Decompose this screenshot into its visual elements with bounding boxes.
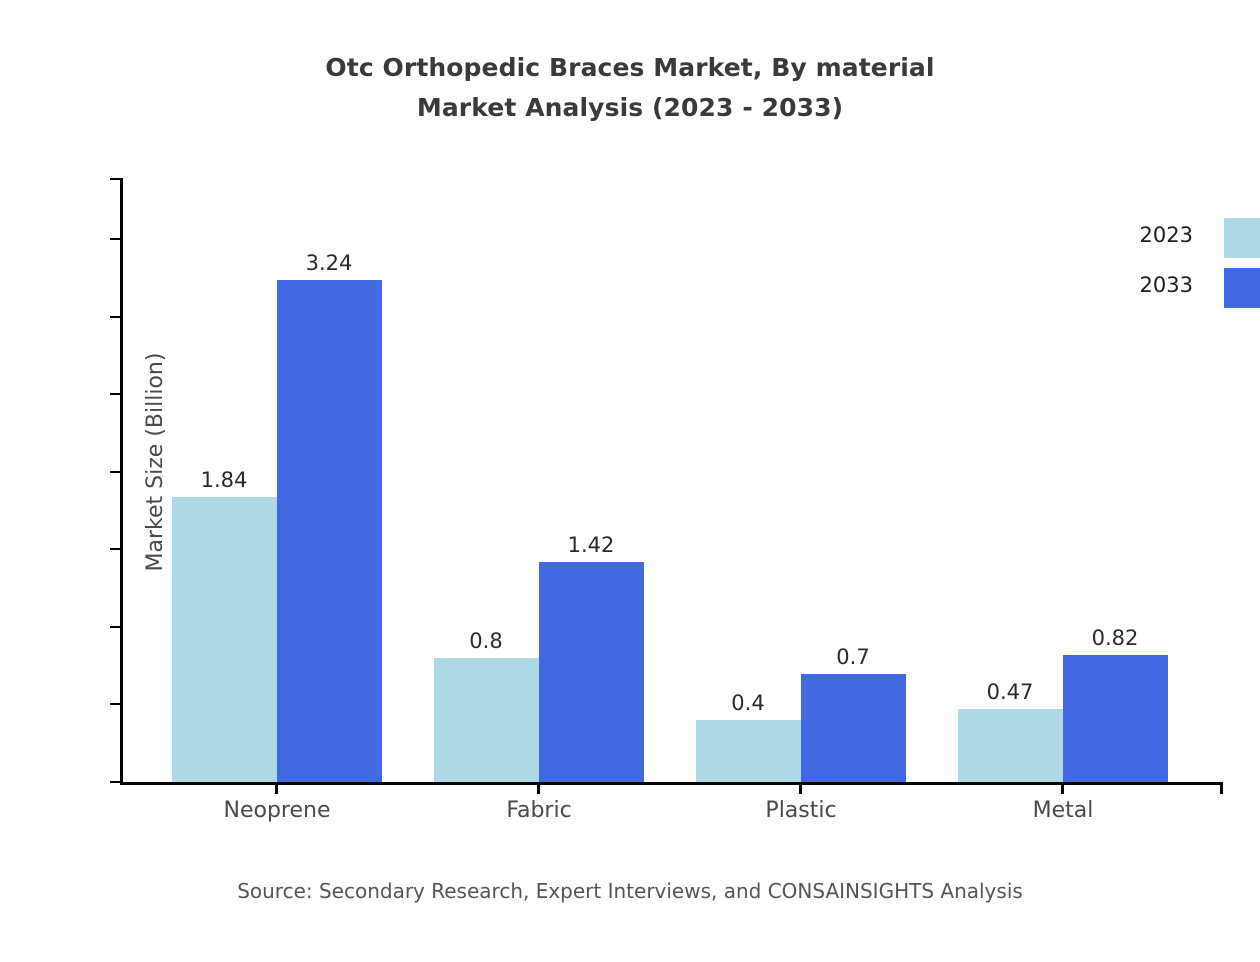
y-tick-mark (110, 238, 121, 240)
x-tick-mark-end (1220, 783, 1223, 794)
y-axis-title: Market Size (Billion) (144, 0, 168, 962)
chart-figure: Otc Orthopedic Braces Market, By materia… (0, 0, 1260, 920)
x-tick-mark (799, 783, 802, 794)
bar-value-label-2033-plastic: 0.7 (783, 646, 923, 668)
bar-2033-neoprene (277, 280, 382, 782)
bar-value-label-2033-fabric: 1.42 (521, 534, 661, 556)
bar-2023-plastic (696, 720, 801, 782)
legend-swatch-2033 (1224, 268, 1260, 308)
bar-2023-neoprene (172, 497, 277, 782)
bar-value-label-2023-plastic: 0.4 (678, 692, 818, 714)
chart-legend: 2023 2033 (1100, 218, 1260, 318)
y-tick-mark (110, 548, 121, 550)
bar-2033-plastic (801, 674, 906, 782)
y-axis-spine (120, 178, 123, 782)
bar-2033-fabric (539, 562, 644, 782)
x-tick-label-fabric: Fabric (419, 798, 659, 824)
x-axis-spine (120, 782, 1223, 785)
x-tick-label-metal: Metal (943, 798, 1183, 824)
y-tick-mark (110, 393, 121, 395)
plot-area: 0.0 0.5 1.0 1.5 2.0 2.5 3.0 3.5 Neoprene… (122, 178, 1222, 782)
y-tick-mark (110, 471, 121, 473)
legend-label-2023: 2023 (1100, 223, 1193, 247)
y-tick-mark-top (110, 178, 121, 180)
chart-title-line-1: Otc Orthopedic Braces Market, By materia… (0, 48, 1260, 88)
y-tick-mark (110, 316, 121, 318)
bar-value-label-2023-fabric: 0.8 (416, 630, 556, 652)
bar-value-label-2023-neoprene: 1.84 (154, 469, 294, 491)
legend-swatch-2023 (1224, 218, 1260, 258)
bar-value-label-2023-metal: 0.47 (940, 681, 1080, 703)
legend-label-2033: 2033 (1100, 273, 1193, 297)
x-tick-mark (537, 783, 540, 794)
x-tick-mark (275, 783, 278, 794)
chart-title-line-2: Market Analysis (2023 - 2033) (0, 88, 1260, 128)
chart-title: Otc Orthopedic Braces Market, By materia… (0, 48, 1260, 128)
legend-item-2023[interactable]: 2023 (1100, 218, 1260, 260)
y-tick-mark (110, 781, 121, 783)
bar-value-label-2033-metal: 0.82 (1045, 627, 1185, 649)
x-tick-label-plastic: Plastic (681, 798, 921, 824)
bar-2023-fabric (434, 658, 539, 782)
y-tick-mark (110, 703, 121, 705)
bar-2023-metal (958, 709, 1063, 782)
bar-2033-metal (1063, 655, 1168, 782)
x-tick-label-neoprene: Neoprene (157, 798, 397, 824)
legend-item-2033[interactable]: 2033 (1100, 268, 1260, 310)
source-note: Source: Secondary Research, Expert Inter… (0, 878, 1260, 904)
y-tick-mark (110, 626, 121, 628)
bar-value-label-2033-neoprene: 3.24 (259, 252, 399, 274)
x-tick-mark (1061, 783, 1064, 794)
